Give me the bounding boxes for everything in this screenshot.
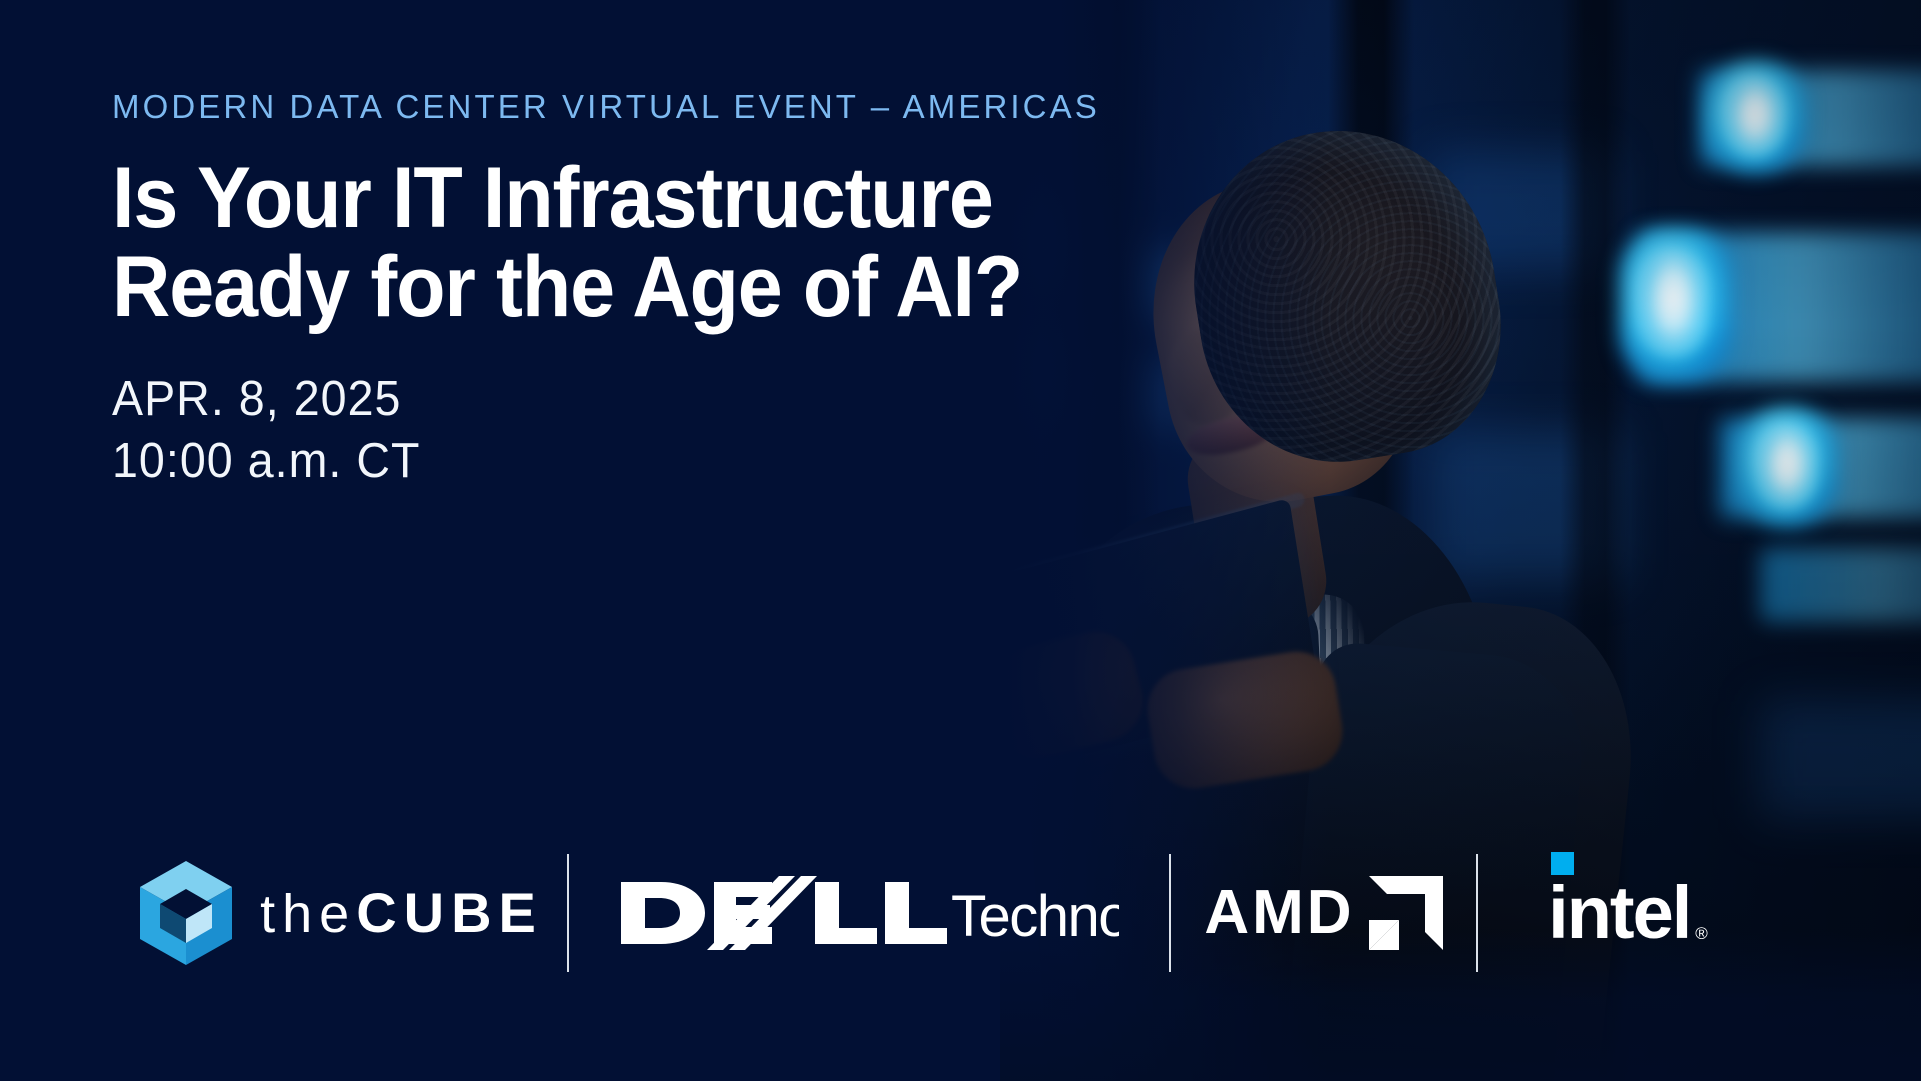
logo-divider — [1169, 854, 1171, 972]
thecube-wordmark: theCUBE — [260, 885, 543, 941]
event-time: 10:00 a.m. CT — [112, 431, 1233, 493]
event-eyebrow: MODERN DATA CENTER VIRTUAL EVENT – AMERI… — [112, 88, 1292, 126]
logo-divider — [567, 854, 569, 972]
logo-dell-technologies[interactable]: Technologies — [569, 853, 1169, 973]
amd-wordmark: AMD — [1204, 882, 1354, 944]
headline-line-2: Ready for the Age of AI? — [112, 243, 1221, 332]
intel-wordmark: intel — [1548, 876, 1690, 950]
page-title: Is Your IT Infrastructure Ready for the … — [112, 154, 1221, 333]
dell-technologies-icon: Technologies — [619, 874, 1119, 952]
thecube-word-upper: CUBE — [356, 885, 543, 941]
logo-divider — [1476, 854, 1478, 972]
logo-amd[interactable]: AMD — [1171, 853, 1476, 973]
logo-thecube[interactable]: theCUBE — [112, 853, 567, 973]
event-date: APR. 8, 2025 — [112, 369, 1233, 431]
headline-line-1: Is Your IT Infrastructure — [112, 154, 1221, 243]
banner-copy: MODERN DATA CENTER VIRTUAL EVENT – AMERI… — [112, 88, 1292, 492]
sponsor-logo-bar: theCUBE Technologie — [112, 853, 1778, 973]
intel-wordmark-text: intel — [1548, 871, 1690, 954]
svg-text:Technologies: Technologies — [951, 884, 1119, 949]
event-datetime: APR. 8, 2025 10:00 a.m. CT — [112, 369, 1233, 492]
cube-icon — [136, 859, 236, 967]
intel-dot-icon — [1551, 852, 1574, 875]
event-banner: MODERN DATA CENTER VIRTUAL EVENT – AMERI… — [0, 0, 1921, 1081]
thecube-word-lower: the — [260, 887, 356, 941]
logo-intel[interactable]: intel ® — [1478, 853, 1778, 973]
amd-arrow-icon — [1369, 876, 1443, 950]
intel-registered-mark: ® — [1695, 924, 1708, 944]
